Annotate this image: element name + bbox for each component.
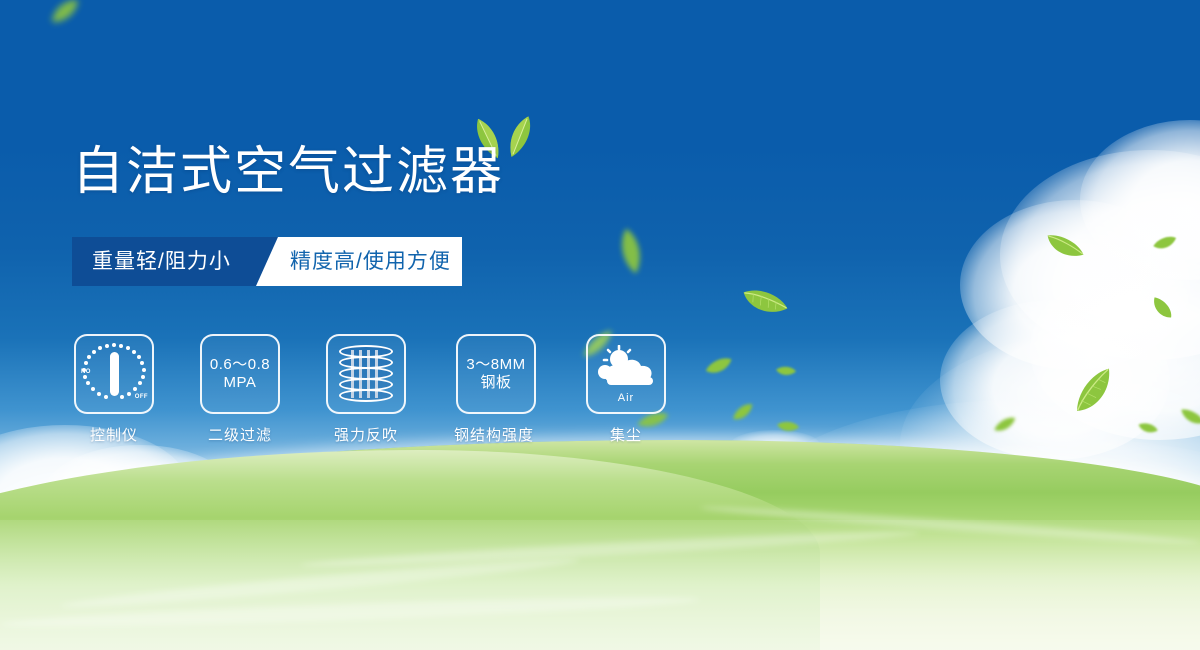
floating-leaf xyxy=(990,413,1019,436)
steel-plate-text: 钢板 xyxy=(466,374,525,392)
page-title: 自洁式空气过滤器 xyxy=(72,146,504,198)
feature-label: 钢结构强度 xyxy=(446,424,542,445)
leaf-icon xyxy=(501,111,541,163)
leaf-icon xyxy=(702,353,736,378)
air-label: Air xyxy=(595,392,657,404)
cloud-air-icon: Air xyxy=(595,345,657,403)
floating-leaf xyxy=(1151,233,1180,253)
dial-off-label: OFF xyxy=(135,394,148,400)
feature-list: NO OFF 控制仪 0.6〜0.8 MPA 二级过滤 xyxy=(72,334,668,445)
hero-banner: 自洁式空气过滤器 重量轻/阻力小 精度高/使用方便 xyxy=(0,0,1200,650)
pressure-unit-text: MPA xyxy=(210,374,270,392)
steel-thickness-text: 3〜8MM xyxy=(466,356,525,374)
feature-item-dust[interactable]: Air 集尘 xyxy=(584,334,668,445)
steel-plate-text-icon: 3〜8MM 钢板 xyxy=(466,356,525,392)
leaf-icon xyxy=(1151,233,1180,253)
sprout-leaf-right xyxy=(501,111,541,163)
floating-leaf xyxy=(775,418,801,436)
floating-leaf xyxy=(1136,419,1161,438)
feature-icon-box: 3〜8MM 钢板 xyxy=(456,334,536,414)
floating-leaf xyxy=(1177,403,1200,431)
leaf-icon xyxy=(1147,292,1176,324)
feature-label: 强力反吹 xyxy=(324,424,408,445)
subtitle-right-text: 精度高/使用方便 xyxy=(290,237,451,286)
leaf-icon xyxy=(775,418,801,436)
feature-label: 集尘 xyxy=(584,424,668,445)
feature-label: 二级过滤 xyxy=(198,424,282,445)
feature-label: 控制仪 xyxy=(72,424,156,445)
cloud-shape xyxy=(1080,120,1200,280)
dial-switch-icon: NO OFF xyxy=(81,343,147,405)
floating-leaf xyxy=(45,0,84,29)
leaf-icon xyxy=(612,225,649,278)
subtitle-banner: 重量轻/阻力小 精度高/使用方便 xyxy=(72,237,462,286)
feature-icon-box: 0.6〜0.8 MPA xyxy=(200,334,280,414)
floating-leaf xyxy=(1066,364,1125,421)
grass-light-overlay xyxy=(0,520,1200,650)
floating-leaf xyxy=(702,353,736,378)
feature-icon-box: NO OFF xyxy=(74,334,154,414)
leaf-icon xyxy=(1066,364,1125,421)
cloud-shape xyxy=(1030,260,1200,440)
leaf-icon xyxy=(45,0,84,29)
floating-leaf xyxy=(728,399,757,425)
feature-item-controller[interactable]: NO OFF 控制仪 xyxy=(72,334,156,445)
cloud-shape xyxy=(960,200,1190,370)
dial-lever xyxy=(110,352,119,396)
leaf-icon xyxy=(728,399,757,425)
cloud-shape xyxy=(940,300,1170,460)
cloud-sun-glyph xyxy=(595,345,657,389)
leaf-icon xyxy=(990,413,1019,436)
pressure-range-text: 0.6〜0.8 xyxy=(210,356,270,374)
subtitle-left-text: 重量轻/阻力小 xyxy=(92,237,231,286)
feature-icon-box: Air xyxy=(586,334,666,414)
leaf-icon xyxy=(1177,403,1200,431)
cloud-shape xyxy=(1000,150,1200,360)
floating-leaf xyxy=(737,280,792,327)
filter-cartridge-icon xyxy=(339,345,393,403)
leaf-icon xyxy=(737,280,792,327)
dial-on-label: NO xyxy=(81,369,91,375)
feature-item-backblow[interactable]: 强力反吹 xyxy=(324,334,408,445)
feature-icon-box xyxy=(326,334,406,414)
leaf-icon xyxy=(774,364,797,379)
floating-leaf xyxy=(774,364,797,379)
pressure-text-icon: 0.6〜0.8 MPA xyxy=(210,356,270,392)
feature-item-pressure[interactable]: 0.6〜0.8 MPA 二级过滤 xyxy=(198,334,282,445)
floating-leaf xyxy=(612,225,649,278)
feature-item-steel[interactable]: 3〜8MM 钢板 钢结构强度 xyxy=(450,334,542,445)
leaf-icon xyxy=(1136,419,1161,438)
floating-leaf xyxy=(1147,292,1176,324)
leaf-icon xyxy=(1041,225,1088,268)
floating-leaf xyxy=(1041,225,1088,268)
